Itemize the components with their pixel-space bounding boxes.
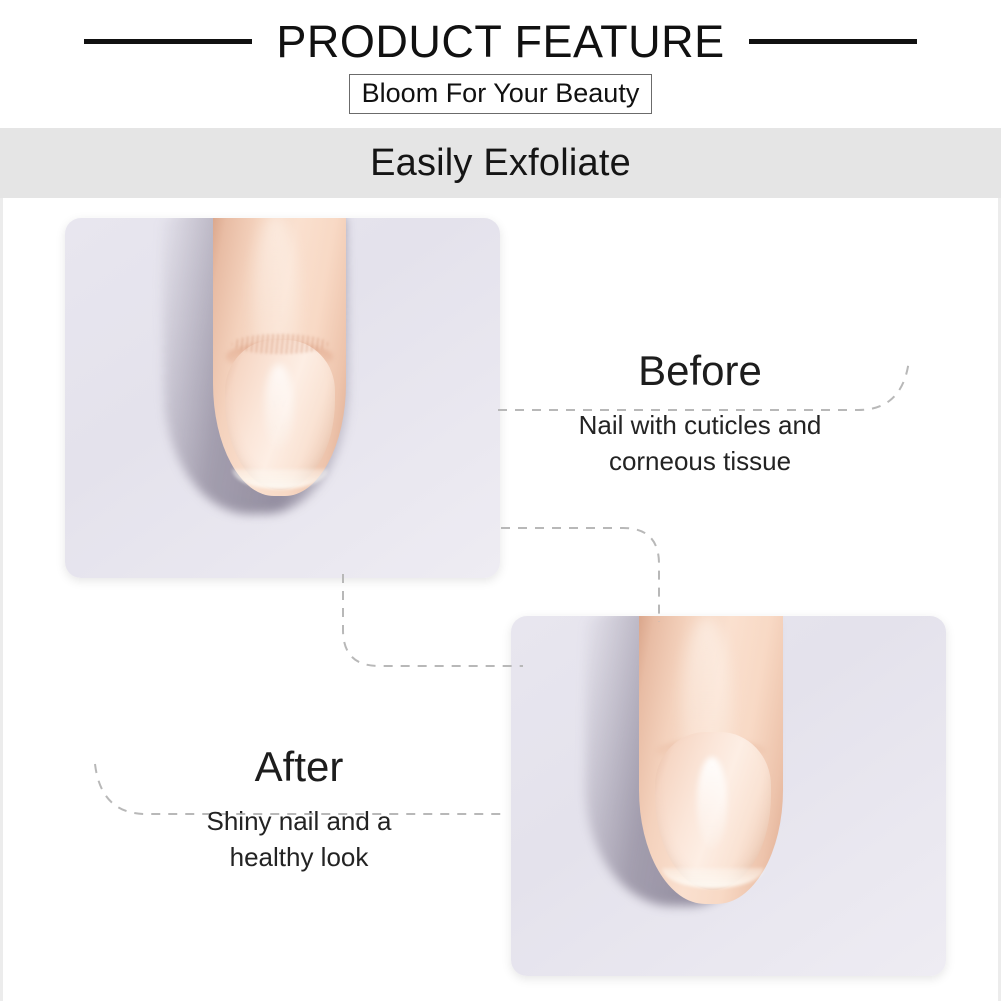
after-callout: After Shiny nail and a healthy look <box>99 746 499 873</box>
section-title: Easily Exfoliate <box>370 144 631 182</box>
after-label: After <box>99 746 499 788</box>
subtitle-badge: Bloom For Your Beauty <box>349 74 653 114</box>
middle-connector-dash-lower <box>343 574 523 666</box>
comparison-content: Before Nail with cuticles and corneous t… <box>0 198 1001 1001</box>
middle-connector-dash <box>501 528 659 622</box>
after-description-line1: Shiny nail and a <box>99 802 499 838</box>
nail-shine <box>265 364 294 451</box>
title-rule-left-icon <box>84 39 252 44</box>
after-photo-card <box>511 616 946 976</box>
subtitle-wrap: Bloom For Your Beauty <box>0 74 1001 114</box>
rough-cuticle-texture <box>232 334 329 354</box>
before-photo-card <box>65 218 500 578</box>
before-nail <box>225 340 335 490</box>
nail-shine <box>697 757 727 849</box>
after-description-line2: healthy look <box>99 838 499 874</box>
section-band: Easily Exfoliate <box>0 128 1001 198</box>
product-feature-infographic: PRODUCT FEATURE Bloom For Your Beauty Ea… <box>0 0 1001 1001</box>
before-callout: Before Nail with cuticles and corneous t… <box>500 350 900 477</box>
header: PRODUCT FEATURE Bloom For Your Beauty <box>0 0 1001 128</box>
nail-free-edge <box>662 868 764 889</box>
title-row: PRODUCT FEATURE <box>0 12 1001 70</box>
before-label: Before <box>500 350 900 392</box>
before-description-line2: corneous tissue <box>500 442 900 478</box>
title-rule-right-icon <box>749 39 917 44</box>
after-finger-image <box>639 616 783 904</box>
before-finger-image <box>213 218 346 496</box>
page-title: PRODUCT FEATURE <box>276 19 724 64</box>
before-description-line1: Nail with cuticles and <box>500 406 900 442</box>
after-nail <box>655 732 771 890</box>
